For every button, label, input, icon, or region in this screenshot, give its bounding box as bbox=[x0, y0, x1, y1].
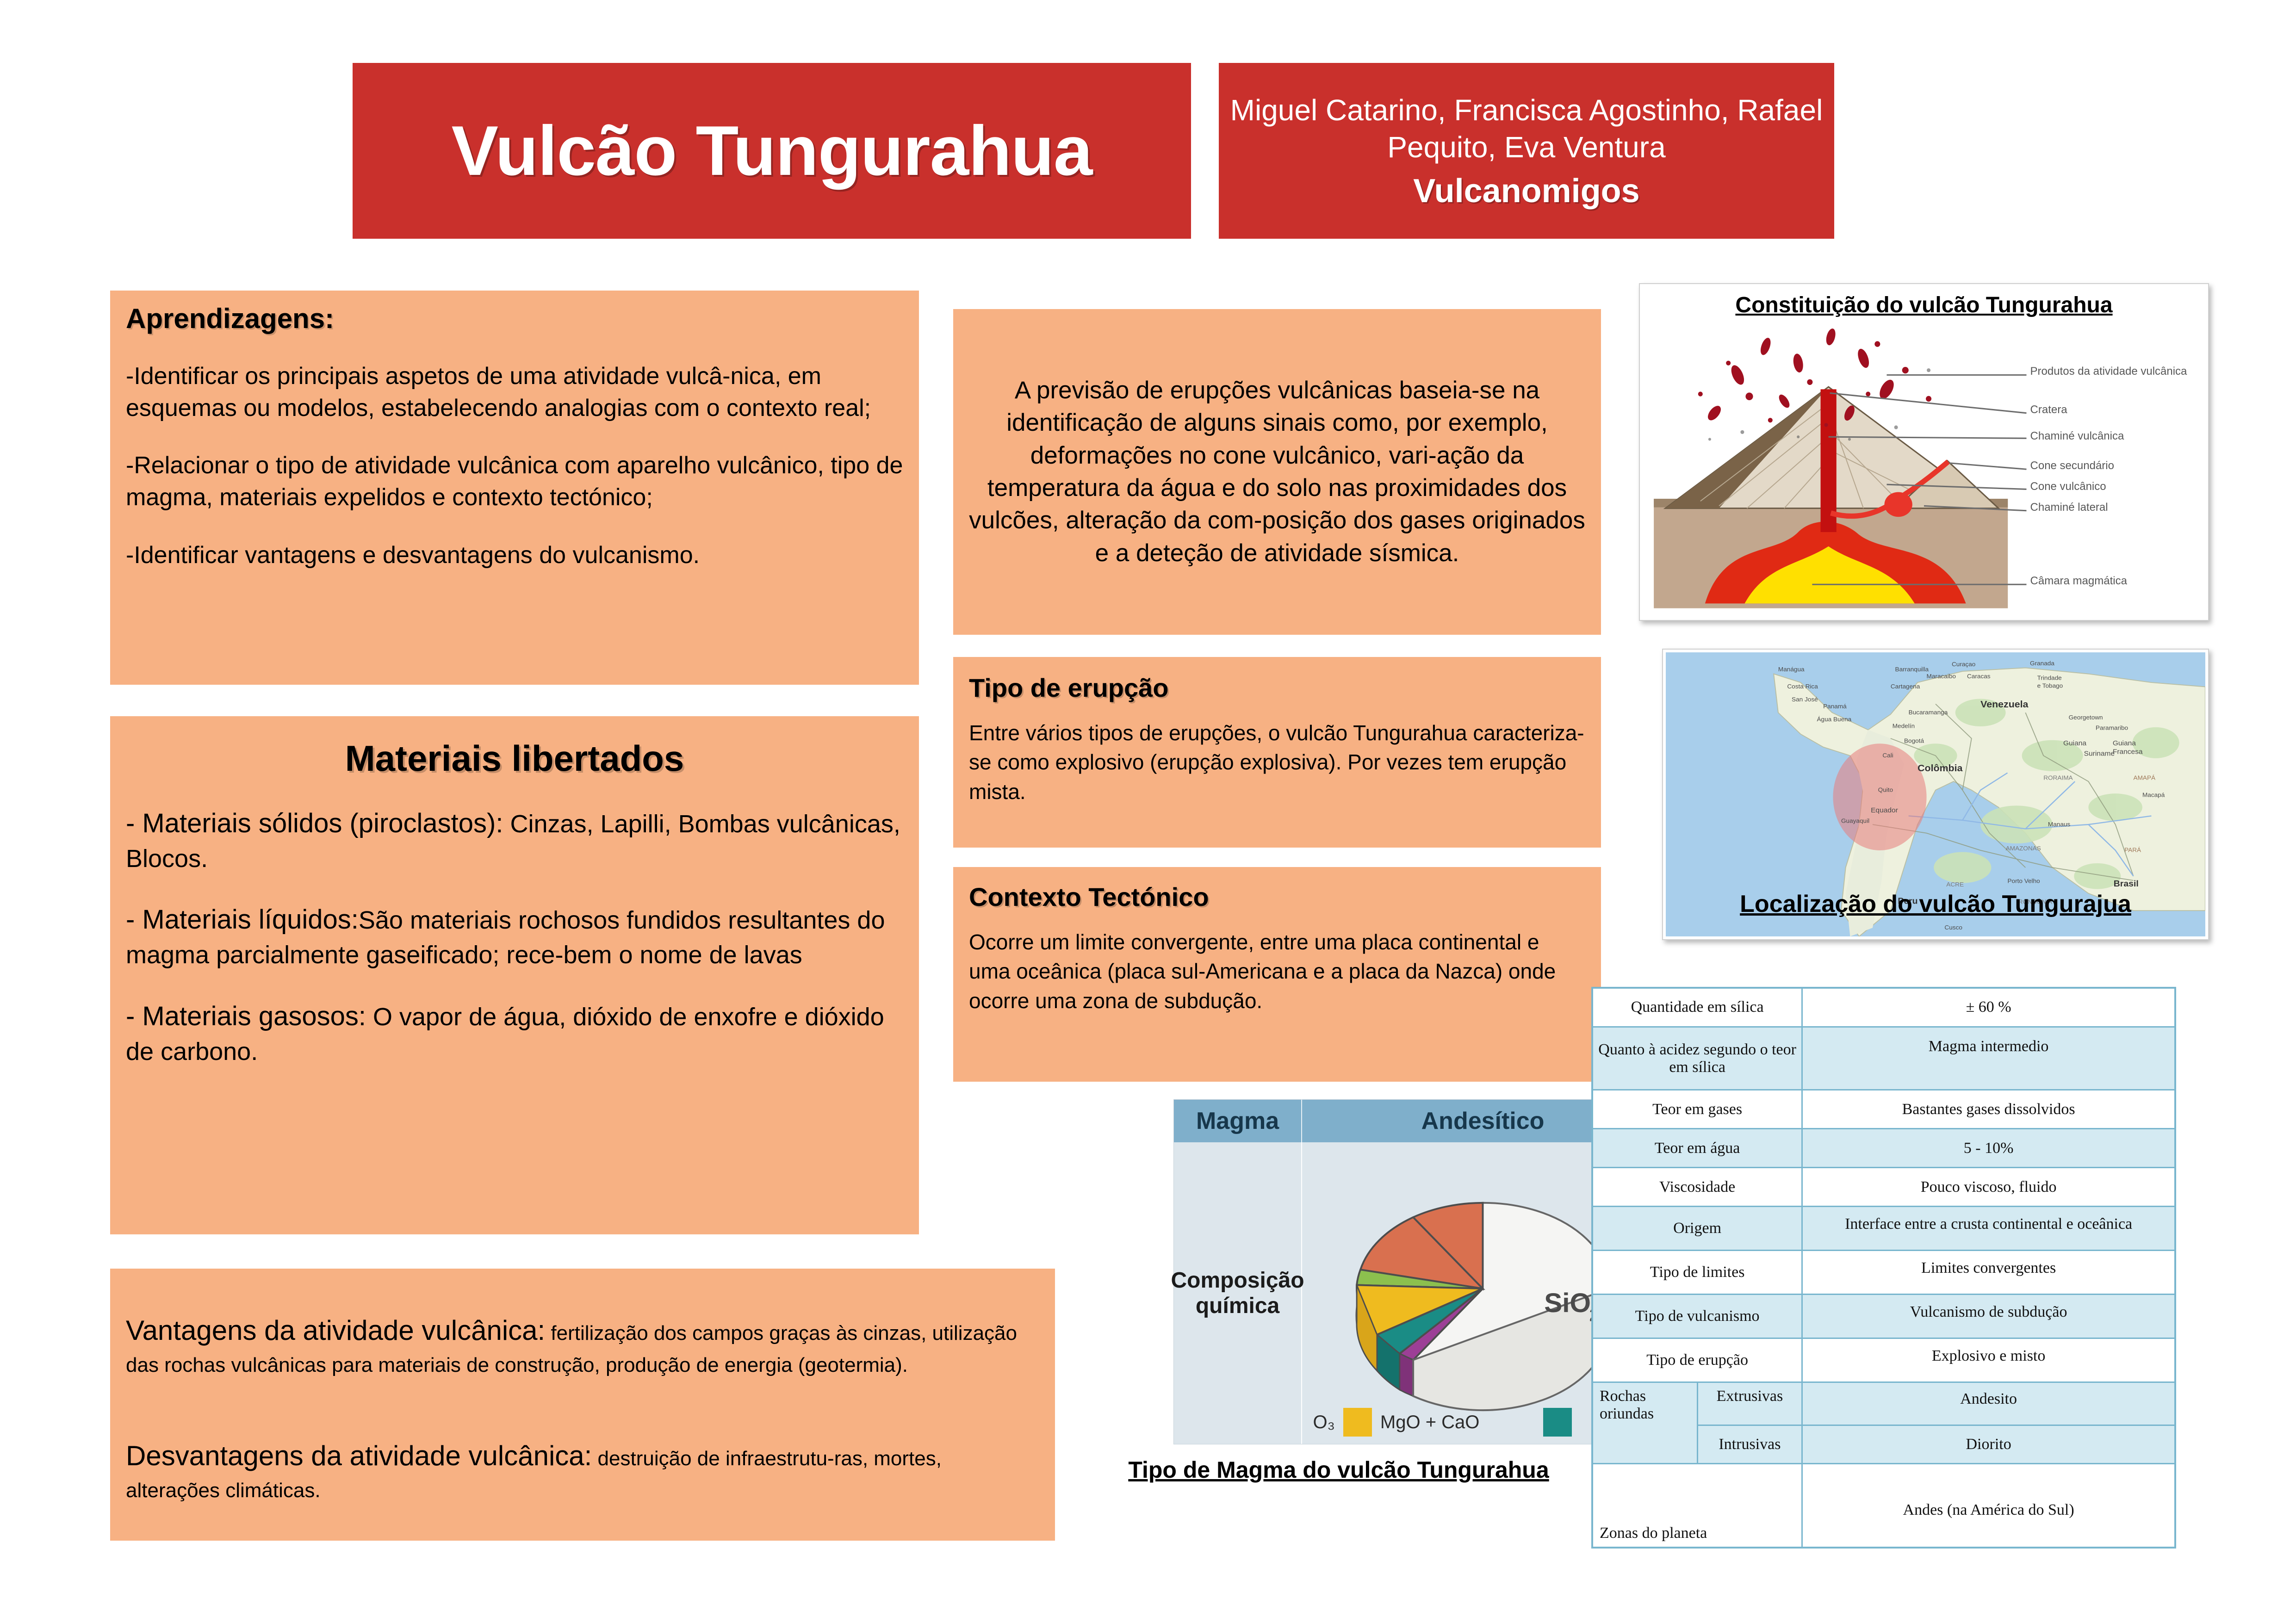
magma-col-label: Magma bbox=[1174, 1100, 1302, 1142]
authors-banner: Miguel Catarino, Francisca Agostinho, Ra… bbox=[1219, 63, 1834, 239]
svg-text:Bucaramanga: Bucaramanga bbox=[1909, 709, 1948, 716]
learning-item-1: -Identificar os principais aspetos de um… bbox=[126, 360, 903, 424]
rocks-label: Rochas oriundas bbox=[1593, 1382, 1698, 1464]
prediction-text: A previsão de erupções vulcânicas baseia… bbox=[969, 374, 1585, 570]
rocks-subtype: Intrusivas bbox=[1697, 1425, 1802, 1464]
volcano-figure-caption: Constituição do vulcão Tungurahua bbox=[1644, 292, 2203, 318]
row-value: Bastantes gases dissolvidos bbox=[1802, 1090, 2175, 1129]
svg-text:Guayaquil: Guayaquil bbox=[1841, 818, 1869, 824]
svg-text:Macapá: Macapá bbox=[2142, 792, 2165, 799]
magma-composition-figure: Magma Andesítico Composição química bbox=[1173, 1099, 1664, 1444]
svg-text:AMAZONAS: AMAZONAS bbox=[2006, 845, 2041, 852]
row-key: Quantidade em sílica bbox=[1593, 988, 1802, 1027]
eruption-type-panel: Tipo de erupção Entre vários tipos de er… bbox=[953, 657, 1601, 848]
svg-text:Cali: Cali bbox=[1882, 752, 1893, 759]
row-value: ± 60 % bbox=[1802, 988, 2175, 1027]
volcano-label-cone: Cone vulcânico bbox=[2030, 480, 2106, 494]
materials-title: Materiais libertados bbox=[126, 737, 903, 780]
row-key: Origem bbox=[1593, 1207, 1802, 1251]
learning-objectives-panel: Aprendizagens: -Identificar os principai… bbox=[110, 291, 919, 685]
table-row-rocks-extrusive: Rochas oriundas Extrusivas Andesito bbox=[1593, 1382, 2175, 1425]
row-key: Teor em gases bbox=[1593, 1090, 1802, 1129]
row-value: 5 - 10% bbox=[1802, 1129, 2175, 1168]
row-key: Teor em água bbox=[1593, 1129, 1802, 1168]
advantages-panel: Vantagens da atividade vulcânica: fertil… bbox=[110, 1269, 1055, 1541]
location-map-figure: ManáguaCosta Rica San JoséPanamá Água Bu… bbox=[1662, 649, 2209, 940]
table-row: Teor em gases Bastantes gases dissolvido… bbox=[1593, 1090, 2175, 1129]
rocks-value: Diorito bbox=[1802, 1425, 2175, 1464]
team-name: Vulcanomigos bbox=[1413, 172, 1639, 210]
authors-list: Miguel Catarino, Francisca Agostinho, Ra… bbox=[1219, 92, 1834, 166]
row-value: Vulcanismo de subdução bbox=[1802, 1295, 2175, 1338]
volcano-structure-figure: Constituição do vulcão Tungurahua bbox=[1639, 283, 2209, 621]
svg-text:Granada: Granada bbox=[2030, 660, 2054, 667]
svg-text:SiO: SiO bbox=[1544, 1288, 1591, 1318]
legend-swatch-mgo-cao bbox=[1343, 1408, 1372, 1437]
svg-text:AMAPÁ: AMAPÁ bbox=[2134, 774, 2156, 781]
svg-text:Cartagena: Cartagena bbox=[1891, 683, 1920, 690]
volcano-svg bbox=[1644, 318, 2203, 613]
rocks-subtype: Extrusivas bbox=[1697, 1382, 1802, 1425]
learning-item-2: -Relacionar o tipo de atividade vulcânic… bbox=[126, 450, 903, 513]
tectonic-panel: Contexto Tectónico Ocorre um limite conv… bbox=[953, 867, 1601, 1082]
eruption-type-heading: Tipo de erupção bbox=[969, 673, 1585, 703]
magma-table-header: Magma Andesítico bbox=[1174, 1100, 1663, 1142]
svg-text:Panamá: Panamá bbox=[1823, 703, 1847, 710]
zones-value: Andes (na América do Sul) bbox=[1802, 1464, 2175, 1548]
magma-row-label-cell: Composição química bbox=[1174, 1142, 1302, 1444]
row-key: Tipo de vulcanismo bbox=[1593, 1295, 1802, 1338]
row-value: Interface entre a crusta continental e o… bbox=[1802, 1207, 2175, 1251]
table-row: Teor em água 5 - 10% bbox=[1593, 1129, 2175, 1168]
table-row: Origem Interface entre a crusta continen… bbox=[1593, 1207, 2175, 1251]
materials-liquid: - Materiais líquidos:São materiais rocho… bbox=[126, 902, 903, 972]
materials-gas: - Materiais gasosos: O vapor de água, di… bbox=[126, 998, 903, 1069]
svg-text:Equador: Equador bbox=[1871, 806, 1898, 814]
legend-swatch-teal bbox=[1543, 1408, 1572, 1437]
map-figure-caption: Localização do vulcão Tungurajua bbox=[1666, 890, 2205, 918]
svg-text:Cusco: Cusco bbox=[1944, 924, 1962, 931]
volcano-label-crater: Cratera bbox=[2030, 403, 2067, 417]
row-value: Limites convergentes bbox=[1802, 1251, 2175, 1295]
row-value: Pouco viscoso, fluido bbox=[1802, 1168, 2175, 1207]
svg-text:Guiana: Guiana bbox=[2113, 739, 2136, 747]
volcano-label-products: Produtos da atividade vulcânica bbox=[2030, 365, 2198, 378]
materials-gas-lead: - Materiais gasosos: bbox=[126, 1001, 366, 1031]
svg-text:Porto Velho: Porto Velho bbox=[2007, 878, 2040, 885]
table-row: Tipo de vulcanismo Vulcanismo de subduçã… bbox=[1593, 1295, 2175, 1338]
svg-text:Colômbia: Colômbia bbox=[1917, 763, 1963, 773]
svg-text:ACRE: ACRE bbox=[1946, 881, 1964, 888]
disadvantages-lead: Desvantagens da atividade vulcânica: bbox=[126, 1440, 592, 1471]
svg-text:Venezuela: Venezuela bbox=[1980, 699, 2029, 709]
svg-text:Georgetown: Georgetown bbox=[2069, 714, 2103, 721]
volcano-label-chimney: Chaminé vulcânica bbox=[2030, 430, 2124, 443]
learning-heading: Aprendizagens: bbox=[126, 303, 903, 335]
svg-text:Água Buena: Água Buena bbox=[1817, 716, 1851, 723]
svg-text:Barranquilla: Barranquilla bbox=[1895, 666, 1929, 673]
svg-text:Bogotá: Bogotá bbox=[1904, 737, 1924, 744]
svg-text:Guiana: Guiana bbox=[2063, 739, 2087, 747]
svg-text:RORAIMA: RORAIMA bbox=[2043, 774, 2073, 781]
disadvantages-text: Desvantagens da atividade vulcânica: des… bbox=[126, 1436, 1039, 1505]
table-row-zones: Zonas do planeta Andes (na América do Su… bbox=[1593, 1464, 2175, 1548]
magma-properties-table-wrap: Quantidade em sílica ± 60 % Quanto à aci… bbox=[1592, 987, 2176, 1548]
row-value: Magma intermedio bbox=[1802, 1027, 2175, 1090]
svg-text:Manaus: Manaus bbox=[2048, 821, 2071, 828]
svg-text:Manágua: Manágua bbox=[1778, 666, 1805, 673]
volcano-diagram-image: Produtos da atividade vulcânica Cratera … bbox=[1644, 318, 2203, 613]
materials-solid-lead: - Materiais sólidos (piroclastos): bbox=[126, 808, 503, 838]
svg-text:Paramaribo: Paramaribo bbox=[2096, 725, 2128, 731]
svg-text:Caracas: Caracas bbox=[1967, 673, 1991, 680]
zones-key: Zonas do planeta bbox=[1593, 1464, 1802, 1548]
table-row: Viscosidade Pouco viscoso, fluido bbox=[1593, 1168, 2175, 1207]
svg-text:San José: San José bbox=[1792, 696, 1818, 703]
table-row: Quanto à acidez segundo o teor em sílica… bbox=[1593, 1027, 2175, 1090]
tectonic-heading: Contexto Tectónico bbox=[969, 882, 1585, 912]
pie-legend: O₃ MgO + CaO bbox=[1313, 1408, 1572, 1437]
svg-text:Francesa: Francesa bbox=[2113, 748, 2143, 756]
magma-figure-caption: Tipo de Magma do vulcão Tungurahua bbox=[1086, 1456, 1591, 1483]
row-key: Quanto à acidez segundo o teor em sílica bbox=[1593, 1027, 1802, 1090]
volcano-label-secondary-cone: Cone secundário bbox=[2030, 459, 2114, 473]
svg-text:PARÁ: PARÁ bbox=[2124, 847, 2141, 854]
page-title: Vulcão Tungurahua bbox=[452, 111, 1092, 192]
tectonic-text: Ocorre um limite convergente, entre uma … bbox=[969, 928, 1585, 1016]
poster-title-banner: Vulcão Tungurahua bbox=[353, 63, 1191, 239]
materials-liquid-lead: - Materiais líquidos: bbox=[126, 904, 359, 935]
row-key: Tipo de limites bbox=[1593, 1251, 1802, 1295]
table-row: Quantidade em sílica ± 60 % bbox=[1593, 988, 2175, 1027]
row-key: Viscosidade bbox=[1593, 1168, 1802, 1207]
legend-label-o3: O₃ bbox=[1313, 1412, 1335, 1433]
volcano-label-lateral-chimney: Chaminé lateral bbox=[2030, 501, 2108, 514]
svg-text:Curaçao: Curaçao bbox=[1952, 661, 1975, 668]
advantages-text: Vantagens da atividade vulcânica: fertil… bbox=[126, 1310, 1039, 1380]
legend-label-mgo-cao: MgO + CaO bbox=[1380, 1412, 1480, 1433]
svg-text:Maracaibo: Maracaibo bbox=[1927, 673, 1956, 680]
prediction-panel: A previsão de erupções vulcânicas baseia… bbox=[953, 309, 1601, 635]
table-row: Tipo de erupção Explosivo e misto bbox=[1593, 1338, 2175, 1382]
materials-solid: - Materiais sólidos (piroclastos): Cinza… bbox=[126, 805, 903, 876]
table-row: Tipo de limites Limites convergentes bbox=[1593, 1251, 2175, 1295]
magma-row-label: Composição química bbox=[1171, 1268, 1304, 1319]
volcano-label-magma-chamber: Câmara magmática bbox=[2030, 575, 2127, 588]
row-value: Explosivo e misto bbox=[1802, 1338, 2175, 1382]
row-key: Tipo de erupção bbox=[1593, 1338, 1802, 1382]
learning-item-3: -Identificar vantagens e desvantagens do… bbox=[126, 539, 903, 571]
rocks-value: Andesito bbox=[1802, 1382, 2175, 1425]
eruption-type-text: Entre vários tipos de erupções, o vulcão… bbox=[969, 719, 1585, 806]
svg-text:Trindade: Trindade bbox=[2037, 675, 2062, 681]
magma-properties-table: Quantidade em sílica ± 60 % Quanto à aci… bbox=[1592, 987, 2176, 1548]
svg-text:Suriname: Suriname bbox=[2084, 750, 2115, 758]
advantages-lead: Vantagens da atividade vulcânica: bbox=[126, 1315, 545, 1346]
svg-text:Brasil: Brasil bbox=[2114, 879, 2139, 889]
svg-text:Costa Rica: Costa Rica bbox=[1787, 683, 1818, 690]
svg-text:Quito: Quito bbox=[1878, 787, 1893, 793]
svg-text:e Tobago: e Tobago bbox=[2037, 682, 2063, 689]
materials-panel: Materiais libertados - Materiais sólidos… bbox=[110, 716, 919, 1234]
svg-text:Medelín: Medelín bbox=[1893, 723, 1915, 730]
